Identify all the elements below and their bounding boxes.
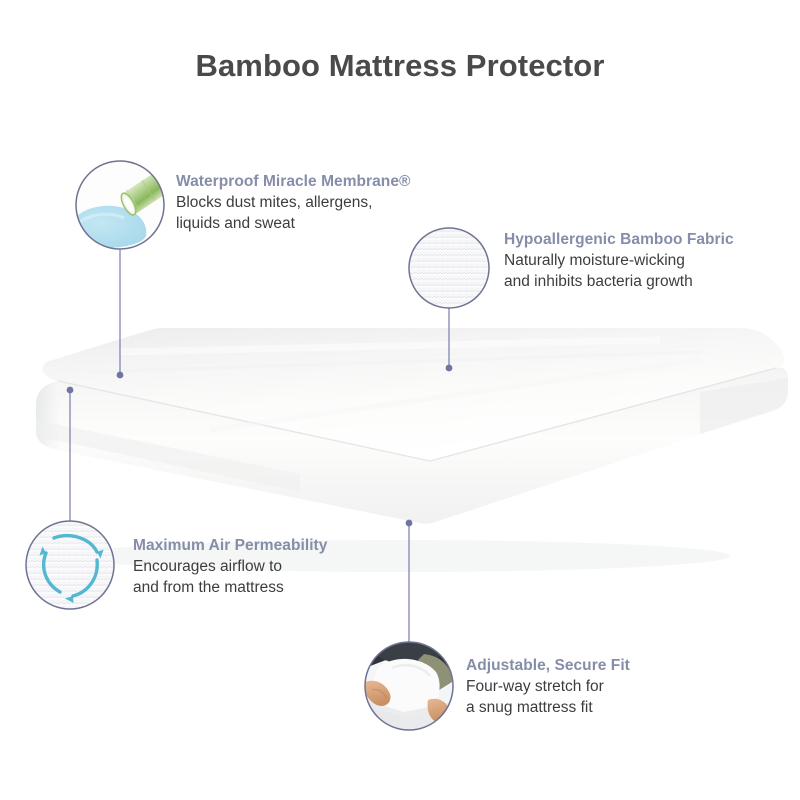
product-illustration <box>0 0 800 800</box>
leader-dot-bamboo <box>446 365 453 372</box>
callout-maximum-air-permeability: Maximum Air Permeability Encourages airf… <box>133 536 327 598</box>
leader-dot-fit <box>406 520 413 527</box>
water-droplet-bamboo-stalk-icon <box>68 161 172 249</box>
callout-heading-bamboo: Hypoallergenic Bamboo Fabric <box>504 230 734 249</box>
callout-heading-airflow: Maximum Air Permeability <box>133 536 327 555</box>
callout-waterproof-miracle-membrane: Waterproof Miracle Membrane® Blocks dust… <box>176 172 410 234</box>
woven-fabric-texture-icon <box>409 228 489 308</box>
callout-body-bamboo: Naturally moisture-wicking and inhibits … <box>504 251 734 291</box>
circular-airflow-arrows-icon <box>26 521 114 609</box>
callout-body-membrane: Blocks dust mites, allergens, liquids an… <box>176 193 410 233</box>
callout-hypoallergenic-bamboo-fabric: Hypoallergenic Bamboo Fabric Naturally m… <box>504 230 734 292</box>
callout-body-airflow: Encourages airflow to and from the mattr… <box>133 557 327 597</box>
callout-body-fit: Four-way stretch for a snug mattress fit <box>466 677 630 717</box>
callout-heading-fit: Adjustable, Secure Fit <box>466 656 630 675</box>
infographic-canvas: Bamboo Mattress Protector <box>0 0 800 800</box>
leader-dot-airflow <box>67 387 74 394</box>
callout-heading-membrane: Waterproof Miracle Membrane® <box>176 172 410 191</box>
hands-fitting-protector-icon <box>365 632 453 730</box>
callout-adjustable-secure-fit: Adjustable, Secure Fit Four-way stretch … <box>466 656 630 718</box>
leader-dot-membrane <box>117 372 124 379</box>
